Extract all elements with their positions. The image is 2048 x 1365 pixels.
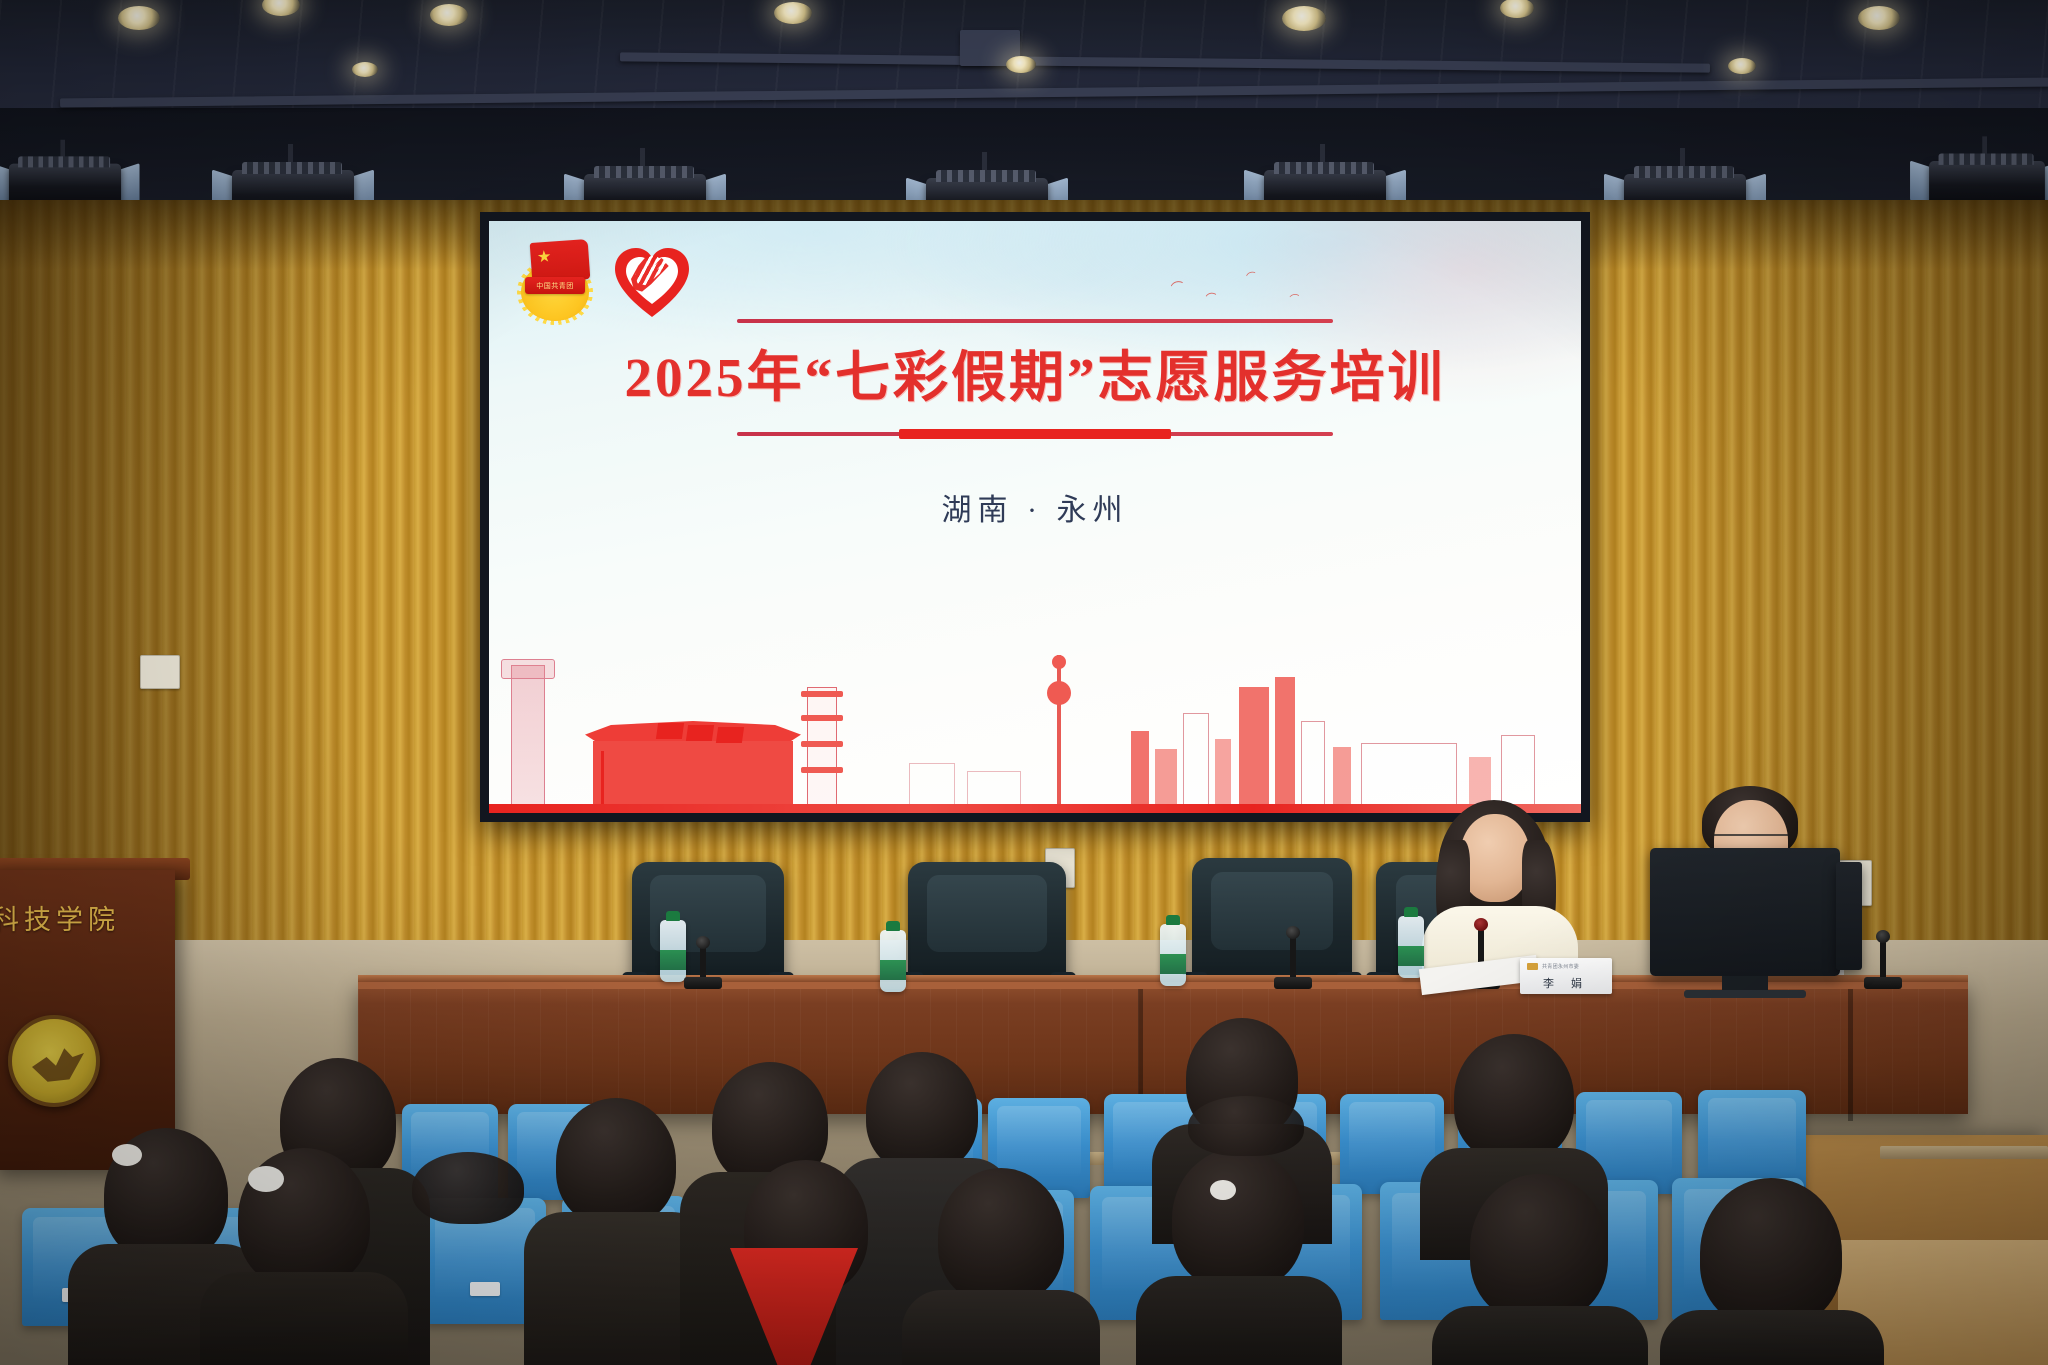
ceiling-downlight [430,4,468,26]
name-card-name: 李 娟 [1520,975,1612,991]
communist-youth-league-emblem-icon: 中国共青团 [515,237,601,323]
skyline-building-outline [909,763,955,805]
huabiao-pillar-top [501,659,555,679]
flagpole [601,751,604,805]
flag-icon [656,723,684,739]
pagoda-tier [801,767,843,773]
audience-person-body [1432,1306,1648,1365]
skyline-building [1155,749,1177,805]
hair-bow-accessory [248,1166,284,1192]
huabiao-pillar [511,665,545,805]
skyline-building [1215,739,1231,805]
audience-person-head [1172,1148,1304,1290]
gooseneck-microphone[interactable] [1290,936,1296,980]
ceiling-downlight [774,2,812,24]
name-card: 共青团永州市委 李 娟 [1520,958,1612,994]
hair-bow-accessory [112,1144,142,1166]
audience-person-body [1660,1310,1884,1365]
youth-league-ribbon-label: 中国共青团 [525,277,585,294]
skyline-building-outline [1183,713,1209,805]
flag-icon [716,727,744,743]
skyline-building [1333,747,1351,805]
water-bottle[interactable] [880,930,906,992]
ceiling-downlight [1006,56,1036,73]
oriental-pearl-tower-stem [1057,655,1061,805]
head-table-chair[interactable] [1192,858,1352,994]
skyline-building [1239,687,1269,805]
audience-person-body [1136,1276,1342,1365]
flying-bird-icon: ︵ [1204,286,1217,299]
pagoda-tier [801,741,843,747]
skyline-building-outline [1501,735,1535,805]
audience-person-head [556,1098,676,1226]
china-landmark-skyline-graphic [489,643,1581,813]
flying-bird-icon: ︵ [1288,288,1299,299]
ceiling-downlight [1282,6,1326,31]
audience-desk-row [1880,1146,2048,1159]
podium-sign-text: 科技学院 [0,898,142,937]
name-card-organisation: 共青团永州市委 [1542,963,1579,970]
audience-person-head [1470,1174,1608,1322]
seat-number-tag [470,1282,500,1296]
skyline-building-outline [967,771,1021,805]
face [1460,814,1530,902]
ceiling-downlight [118,6,160,30]
hair-bun-accessory [1210,1180,1236,1200]
laptop-screen[interactable] [1836,862,1862,970]
name-card-logo-icon [1527,963,1538,970]
audience-person-head [1454,1034,1574,1162]
audience-person-head [1700,1178,1842,1328]
volunteer-heart-hand-logo-icon [611,237,695,327]
flag-icon [686,725,714,741]
eyeglasses-icon [1714,834,1788,846]
wall-shadow-left [0,200,360,945]
school-circular-emblem-icon [8,1015,100,1107]
tiananmen-gate [593,741,793,805]
slide-text-block: 2025年“七彩假期”志愿服务培训 湖南 · 永州 [489,319,1581,529]
skyline-building-outline [1301,721,1325,805]
audience-person-head [938,1168,1064,1304]
gooseneck-microphone[interactable] [1880,940,1886,980]
skyline-building [1469,757,1491,805]
audience-person-body [902,1290,1100,1365]
water-bottle[interactable] [660,920,686,982]
oriental-pearl-tower-sphere-small [1052,655,1066,669]
gooseneck-microphone[interactable] [700,946,706,980]
audience-person-head [1188,1096,1304,1156]
slide-rule-bottom-thick [899,429,1171,439]
audience-person-head [866,1052,978,1172]
slide-subtitle: 湖南 · 永州 [489,485,1581,529]
table-seam [1848,989,1853,1121]
audience-person-body [200,1272,408,1365]
wall-socket[interactable] [140,655,180,689]
presentation-slide[interactable]: 中国共青团 ︵ ︵ ︵ ︵ 2025年“七彩假期”志愿服务培训 [489,221,1581,813]
ceiling-downlight [1728,58,1756,74]
led-display-frame: 中国共青团 ︵ ︵ ︵ ︵ 2025年“七彩假期”志愿服务培训 [480,212,1590,822]
skyline-building [1131,731,1149,805]
slide-title: 2025年“七彩假期”志愿服务培训 [489,349,1581,407]
pagoda-tier [801,691,843,697]
ceiling-downlight [1858,6,1900,30]
audience-person-head [412,1152,524,1224]
pagoda-tier [801,715,843,721]
desktop-monitor[interactable] [1650,848,1840,976]
ceiling [0,0,2048,230]
slide-rule-top [737,319,1333,323]
oriental-pearl-tower-sphere [1047,681,1071,705]
water-bottle[interactable] [1160,924,1186,986]
ceiling-downlight [352,62,378,77]
slide-rule-bottom-group [737,429,1333,439]
conference-hall-scene: 中国共青团 ︵ ︵ ︵ ︵ 2025年“七彩假期”志愿服务培训 [0,0,2048,1365]
skyline-building [1275,677,1295,805]
expo-china-pavilion [1361,743,1457,805]
